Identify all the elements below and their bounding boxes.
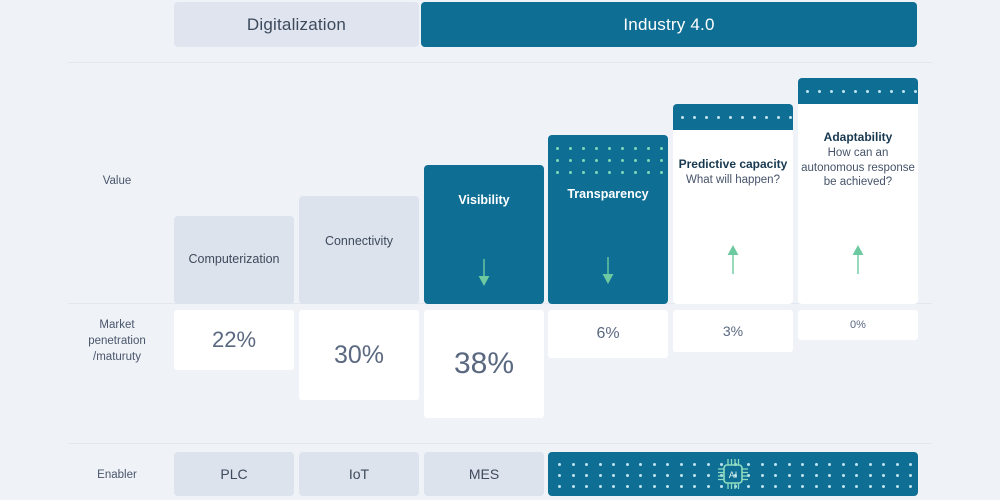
tab-industry-40-label: Industry 4.0 — [623, 15, 714, 35]
step-box-visibility[interactable]: Visibility — [424, 165, 544, 304]
pattern-dot — [788, 474, 791, 477]
tab-digitalization-label: Digitalization — [247, 15, 346, 35]
pattern-dot — [788, 485, 791, 488]
pattern-dot — [828, 463, 831, 466]
pattern-dot — [693, 474, 696, 477]
pattern-dot — [558, 463, 561, 466]
pattern-dot — [765, 116, 768, 119]
step-subtitle-adaptability-line2: autonomous response — [798, 161, 918, 176]
pattern-dot — [729, 116, 732, 119]
pattern-dot — [681, 116, 684, 119]
pattern-dot — [608, 159, 611, 162]
tab-industry-40[interactable]: Industry 4.0 — [421, 2, 917, 47]
pattern-dot — [680, 474, 683, 477]
pattern-dot — [909, 485, 912, 488]
divider-top — [68, 62, 932, 63]
enabler-ai[interactable]: AI — [548, 452, 918, 496]
pattern-dot — [707, 463, 710, 466]
pattern-dot — [612, 485, 615, 488]
pattern-dot — [693, 463, 696, 466]
pattern-dot — [890, 90, 893, 93]
pattern-dot — [896, 474, 899, 477]
pattern-dot — [818, 90, 821, 93]
pattern-dot — [753, 116, 756, 119]
pattern-dot — [621, 171, 624, 174]
pattern-dot — [626, 485, 629, 488]
pattern-dot — [828, 485, 831, 488]
enabler-iot-label: IoT — [349, 466, 369, 482]
pattern-dot — [572, 463, 575, 466]
pattern-dot — [909, 474, 912, 477]
arrow-up-icon — [726, 244, 740, 279]
row-label-market-line2: penetration — [62, 333, 172, 349]
pattern-dot — [788, 463, 791, 466]
pattern-dot — [612, 474, 615, 477]
market-penetration-value: 0% — [850, 319, 866, 331]
pattern-dot — [595, 147, 598, 150]
svg-text:AI: AI — [729, 470, 738, 480]
pattern-dot — [582, 171, 585, 174]
step-title-visibility: Visibility — [424, 193, 544, 208]
pattern-dot — [608, 147, 611, 150]
pattern-dot — [634, 147, 637, 150]
pattern-dot — [761, 463, 764, 466]
market-penetration-value: 22% — [212, 327, 256, 353]
arrow-up-icon — [851, 244, 865, 279]
step-subtitle-adaptability-line1: How can an — [798, 146, 918, 161]
dot-strip-pattern — [798, 78, 918, 104]
step-box-transparency[interactable]: Transparency — [548, 135, 668, 304]
pattern-dot — [842, 90, 845, 93]
pattern-dot — [585, 474, 588, 477]
pattern-dot — [815, 463, 818, 466]
pattern-dot — [653, 463, 656, 466]
pattern-dot — [896, 485, 899, 488]
pattern-dot — [866, 90, 869, 93]
pattern-dot — [599, 463, 602, 466]
pattern-dot — [717, 116, 720, 119]
pattern-dot — [707, 485, 710, 488]
pattern-dot — [789, 116, 792, 119]
market-penetration-predictive-capacity: 3% — [673, 310, 793, 352]
step-subtitle-adaptability-line3: be achieved? — [798, 175, 918, 190]
pattern-dot — [741, 116, 744, 119]
pattern-dot — [914, 90, 917, 93]
arrow-down-icon — [601, 257, 615, 292]
pattern-dot — [608, 171, 611, 174]
pattern-dot — [705, 116, 708, 119]
pattern-dot — [556, 159, 559, 162]
pattern-dot — [854, 90, 857, 93]
pattern-dot — [666, 485, 669, 488]
enabler-mes-label: MES — [469, 466, 499, 482]
enabler-iot[interactable]: IoT — [299, 452, 419, 496]
pattern-dot — [680, 485, 683, 488]
market-penetration-value: 6% — [596, 325, 619, 343]
pattern-dot — [842, 463, 845, 466]
pattern-dot — [666, 463, 669, 466]
market-penetration-adaptability: 0% — [798, 310, 918, 340]
step-box-computerization[interactable]: Computerization — [174, 216, 294, 304]
pattern-dot — [647, 147, 650, 150]
pattern-dot — [621, 159, 624, 162]
tab-digitalization[interactable]: Digitalization — [174, 2, 419, 47]
pattern-dot — [680, 463, 683, 466]
pattern-dot — [882, 485, 885, 488]
pattern-dot — [828, 474, 831, 477]
pattern-dot — [761, 474, 764, 477]
market-penetration-transparency: 6% — [548, 310, 668, 358]
step-box-adaptability[interactable]: Adaptability How can an autonomous respo… — [798, 78, 918, 304]
pattern-dot — [842, 485, 845, 488]
pattern-dot — [902, 90, 905, 93]
diagram-canvas: Digitalization Industry 4.0 Value Market… — [0, 0, 1000, 500]
dot-strip-pattern — [673, 104, 793, 130]
enabler-plc-label: PLC — [220, 466, 247, 482]
pattern-dot — [815, 485, 818, 488]
pattern-dot — [707, 474, 710, 477]
pattern-dot — [693, 485, 696, 488]
step-title-predictive-capacity: Predictive capacity — [673, 157, 793, 172]
pattern-dot — [653, 474, 656, 477]
pattern-dot — [855, 463, 858, 466]
pattern-dot — [660, 159, 663, 162]
pattern-dot — [801, 474, 804, 477]
pattern-dot — [842, 474, 845, 477]
pattern-dot — [653, 485, 656, 488]
pattern-dot — [582, 147, 585, 150]
pattern-dot — [585, 463, 588, 466]
row-label-enabler: Enabler — [62, 467, 172, 483]
row-label-value: Value — [62, 173, 172, 189]
pattern-dot — [599, 485, 602, 488]
pattern-dot — [626, 474, 629, 477]
pattern-dot — [582, 159, 585, 162]
pattern-dot — [801, 463, 804, 466]
pattern-dot — [896, 463, 899, 466]
pattern-dot — [882, 474, 885, 477]
pattern-dot — [660, 147, 663, 150]
market-penetration-visibility: 38% — [424, 310, 544, 418]
pattern-dot — [612, 463, 615, 466]
pattern-dot — [882, 463, 885, 466]
ai-chip-icon: AI — [716, 457, 750, 491]
step-title-connectivity: Connectivity — [299, 234, 419, 249]
pattern-dot — [666, 474, 669, 477]
dot-grid-pattern — [548, 135, 668, 179]
pattern-dot — [806, 90, 809, 93]
market-penetration-value: 30% — [334, 341, 384, 370]
step-box-connectivity[interactable]: Connectivity — [299, 196, 419, 304]
pattern-dot — [639, 485, 642, 488]
step-box-predictive-capacity[interactable]: Predictive capacity What will happen? — [673, 104, 793, 304]
step-title-transparency: Transparency — [548, 187, 668, 202]
pattern-dot — [599, 474, 602, 477]
step-subtitle-predictive-capacity: What will happen? — [673, 173, 793, 188]
pattern-dot — [647, 159, 650, 162]
pattern-dot — [647, 171, 650, 174]
pattern-dot — [595, 159, 598, 162]
pattern-dot — [572, 485, 575, 488]
pattern-dot — [634, 171, 637, 174]
pattern-dot — [558, 485, 561, 488]
pattern-dot — [774, 485, 777, 488]
market-penetration-computerization: 22% — [174, 310, 294, 370]
pattern-dot — [639, 474, 642, 477]
pattern-dot — [569, 159, 572, 162]
row-label-market-penetration: Market penetration /maturuty — [62, 317, 172, 365]
divider-bottom — [68, 443, 932, 444]
row-label-market-line3: /maturuty — [62, 349, 172, 365]
pattern-dot — [869, 474, 872, 477]
pattern-dot — [869, 485, 872, 488]
pattern-dot — [595, 171, 598, 174]
market-penetration-connectivity: 30% — [299, 310, 419, 400]
pattern-dot — [621, 147, 624, 150]
pattern-dot — [660, 171, 663, 174]
step-subtitle-adaptability: How can an autonomous response be achiev… — [798, 146, 918, 190]
pattern-dot — [830, 90, 833, 93]
pattern-dot — [774, 474, 777, 477]
pattern-dot — [777, 116, 780, 119]
pattern-dot — [855, 485, 858, 488]
market-penetration-value: 38% — [454, 347, 514, 381]
pattern-dot — [909, 463, 912, 466]
pattern-dot — [585, 485, 588, 488]
pattern-dot — [569, 147, 572, 150]
arrow-down-icon — [477, 259, 491, 294]
pattern-dot — [855, 474, 858, 477]
step-title-computerization: Computerization — [174, 252, 294, 267]
pattern-dot — [774, 463, 777, 466]
pattern-dot — [558, 474, 561, 477]
pattern-dot — [693, 116, 696, 119]
pattern-dot — [878, 90, 881, 93]
pattern-dot — [626, 463, 629, 466]
pattern-dot — [556, 171, 559, 174]
row-label-market-line1: Market — [62, 317, 172, 333]
step-title-adaptability: Adaptability — [798, 130, 918, 145]
pattern-dot — [801, 485, 804, 488]
pattern-dot — [869, 463, 872, 466]
pattern-dot — [572, 474, 575, 477]
pattern-dot — [634, 159, 637, 162]
enabler-plc[interactable]: PLC — [174, 452, 294, 496]
enabler-mes[interactable]: MES — [424, 452, 544, 496]
pattern-dot — [815, 474, 818, 477]
pattern-dot — [761, 485, 764, 488]
pattern-dot — [556, 147, 559, 150]
market-penetration-value: 3% — [723, 323, 743, 339]
pattern-dot — [569, 171, 572, 174]
pattern-dot — [639, 463, 642, 466]
